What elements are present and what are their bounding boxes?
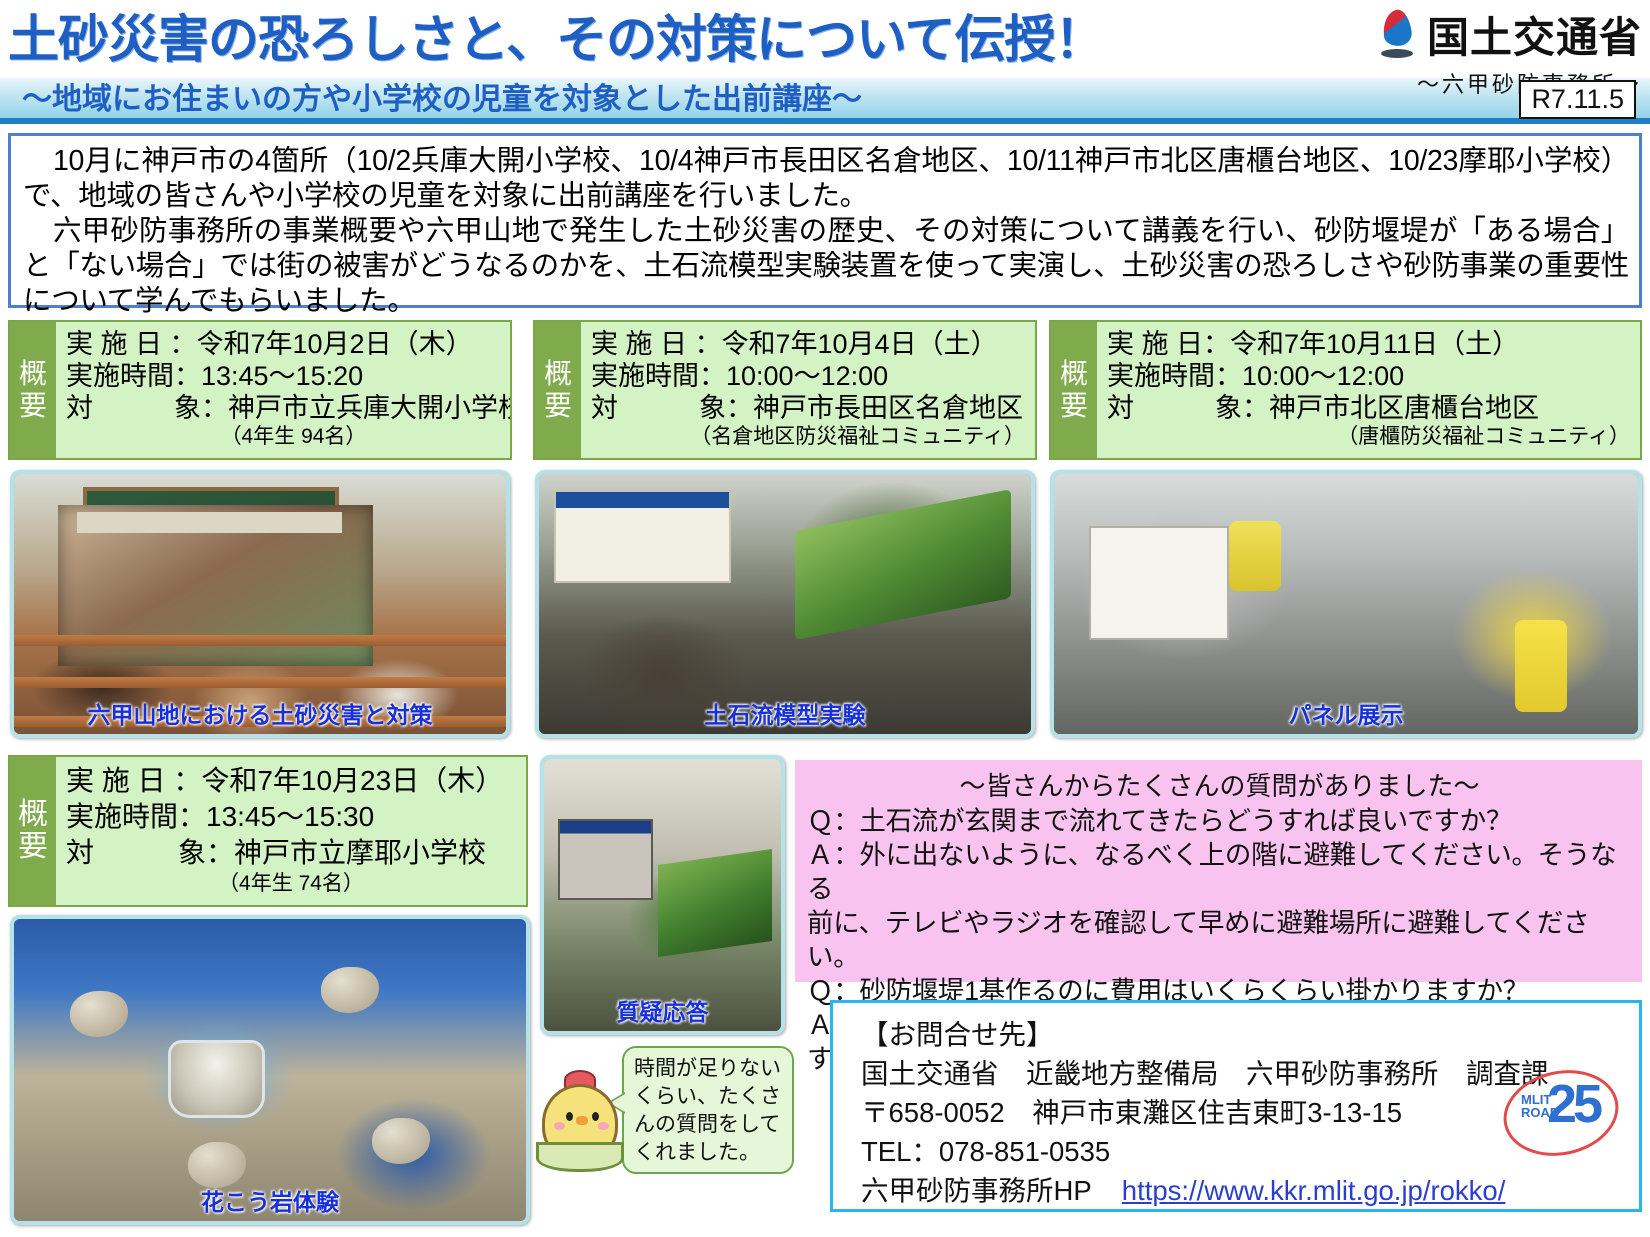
photo-debris-flow-model: 土石流模型実験	[535, 470, 1035, 738]
summary-date: 実 施 日 ：令和7年10月2日（木）	[66, 328, 512, 360]
photo-image	[14, 919, 526, 1221]
summary-target: 対 象：神戸市北区唐櫃台地区	[1107, 392, 1634, 424]
summary-box-4: 概 要 実 施 日 ：令和7年10月23日（木） 実施時間：13:45～15:3…	[8, 755, 528, 907]
summary-body: 実 施 日 ：令和7年10月2日（木） 実施時間：13:45～15:20 対 象…	[56, 322, 512, 458]
badge-number: 25	[1547, 1077, 1599, 1131]
page-subtitle: ～地域にお住まいの方や小学校の児童を対象とした出前講座～	[22, 80, 862, 120]
photo-panel-exhibition: パネル展示	[1050, 470, 1642, 738]
qa-line-2: Ａ：外に出ないように、なるべく上の階に避難してください。そうなる	[807, 838, 1632, 906]
photo-image	[544, 759, 781, 1031]
summary-time: 実施時間：13:45～15:20	[66, 360, 512, 392]
summary-target: 対 象：神戸市長田区名倉地区	[591, 392, 1029, 424]
summary-note: （4年生 94名）	[66, 424, 512, 450]
qa-line-3: 前に、テレビやラジオを確認して早めに避難場所に避難してください。	[807, 906, 1632, 974]
summary-tab-char-1: 概	[544, 358, 572, 390]
summary-box-2: 概 要 実 施 日 ：令和7年10月4日（土） 実施時間：10:00～12:00…	[533, 320, 1037, 460]
summary-note: （4年生 74名）	[66, 871, 520, 897]
summary-tab-char-2: 要	[1060, 390, 1088, 422]
photo-image	[1054, 474, 1638, 734]
summary-tab-char-2: 要	[18, 831, 48, 863]
summary-body: 実 施 日：令和7年10月11日（土） 実施時間：10:00～12:00 対 象…	[1097, 322, 1640, 458]
contact-box: 【お問合せ先】 国土交通省 近畿地方整備局 六甲砂防事務所 調査課 〒658-0…	[830, 1000, 1642, 1212]
contact-hp-label: 六甲砂防事務所HP	[861, 1175, 1091, 1206]
photo-question-answer: 質疑応答	[540, 755, 785, 1035]
summary-tab-label: 概 要	[10, 757, 56, 905]
date-badge: R7.11.5	[1519, 80, 1636, 119]
speech-bubble: 時間が足りないくらい、たくさんの質問をしてくれました。	[622, 1046, 794, 1174]
ministry-name: 国土交通省	[1427, 4, 1642, 65]
summary-body: 実 施 日 ：令和7年10月23日（木） 実施時間：13:45～15:30 対 …	[56, 757, 526, 905]
qa-heading: ～皆さんからたくさんの質問がありました～	[807, 768, 1632, 804]
photo-lecture-rokko: 六甲山地における土砂災害と対策	[10, 470, 510, 738]
speech-bubble-text: 時間が足りないくらい、たくさんの質問をしてくれました。	[634, 1055, 783, 1167]
intro-paragraph-1: 10月に神戸市の4箇所（10/2兵庫大開小学校、10/4神戸市長田区名倉地区、1…	[23, 144, 1629, 214]
summary-time: 実施時間：13:45～15:30	[66, 799, 520, 835]
summary-target: 対 象：神戸市立兵庫大開小学校	[66, 392, 512, 424]
summary-date: 実 施 日 ：令和7年10月4日（土）	[591, 328, 1029, 360]
qa-box: ～皆さんからたくさんの質問がありました～ Ｑ：土石流が玄関まで流れてきたらどうす…	[795, 760, 1642, 982]
photo-granite-experience: 花こう岩体験	[10, 915, 530, 1225]
summary-box-3: 概 要 実 施 日：令和7年10月11日（土） 実施時間：10:00～12:00…	[1049, 320, 1642, 460]
contact-hp-row: 六甲砂防事務所HP https://www.kkr.mlit.go.jp/rok…	[861, 1171, 1639, 1210]
summary-note: （名倉地区防災福祉コミュニティ）	[591, 424, 1029, 450]
photo-image	[14, 474, 506, 734]
summary-tab-label: 概 要	[10, 322, 56, 458]
summary-tab-label: 概 要	[535, 322, 581, 458]
mlit-swoosh-logo-icon	[1375, 10, 1421, 60]
qa-line-1: Ｑ：土石流が玄関まで流れてきたらどうすれば良いですか？	[807, 804, 1632, 838]
page-title: 土砂災害の恐ろしさと、その対策について伝授！	[8, 6, 1288, 74]
intro-paragraph-2: 六甲砂防事務所の事業概要や六甲山地で発生した土砂災害の歴史、その対策について講義…	[23, 214, 1629, 319]
summary-tab-char-2: 要	[19, 390, 47, 422]
summary-time: 実施時間：10:00～12:00	[591, 360, 1029, 392]
summary-tab-char-2: 要	[544, 390, 572, 422]
summary-tab-char-1: 概	[19, 358, 47, 390]
intro-box: 10月に神戸市の4箇所（10/2兵庫大開小学校、10/4神戸市長田区名倉地区、1…	[8, 133, 1642, 308]
summary-tab-label: 概 要	[1051, 322, 1097, 458]
summary-box-1: 概 要 実 施 日 ：令和7年10月2日（木） 実施時間：13:45～15:20…	[8, 320, 512, 460]
summary-tab-char-1: 概	[1060, 358, 1088, 390]
photo-image	[539, 474, 1031, 734]
chick-mascot-icon	[534, 1070, 626, 1172]
press-release-page: 土砂災害の恐ろしさと、その対策について伝授！ 国土交通省 ～六甲砂防事務所～ ～…	[0, 0, 1650, 1237]
summary-tab-char-1: 概	[18, 799, 48, 831]
contact-hp-link[interactable]: https://www.kkr.mlit.go.jp/rokko/	[1122, 1175, 1506, 1206]
summary-body: 実 施 日 ：令和7年10月4日（土） 実施時間：10:00～12:00 対 象…	[581, 322, 1035, 458]
summary-date: 実 施 日 ：令和7年10月23日（木）	[66, 763, 520, 799]
summary-time: 実施時間：10:00～12:00	[1107, 360, 1634, 392]
contact-heading: 【お問合せ先】	[861, 1015, 1639, 1054]
summary-date: 実 施 日：令和7年10月11日（土）	[1107, 328, 1634, 360]
mlit-goal-badge-icon: MLIT ROAD 25	[1501, 1059, 1621, 1167]
summary-note: （唐櫃防災福祉コミュニティ）	[1107, 424, 1634, 450]
summary-target: 対 象：神戸市立摩耶小学校	[66, 835, 520, 871]
